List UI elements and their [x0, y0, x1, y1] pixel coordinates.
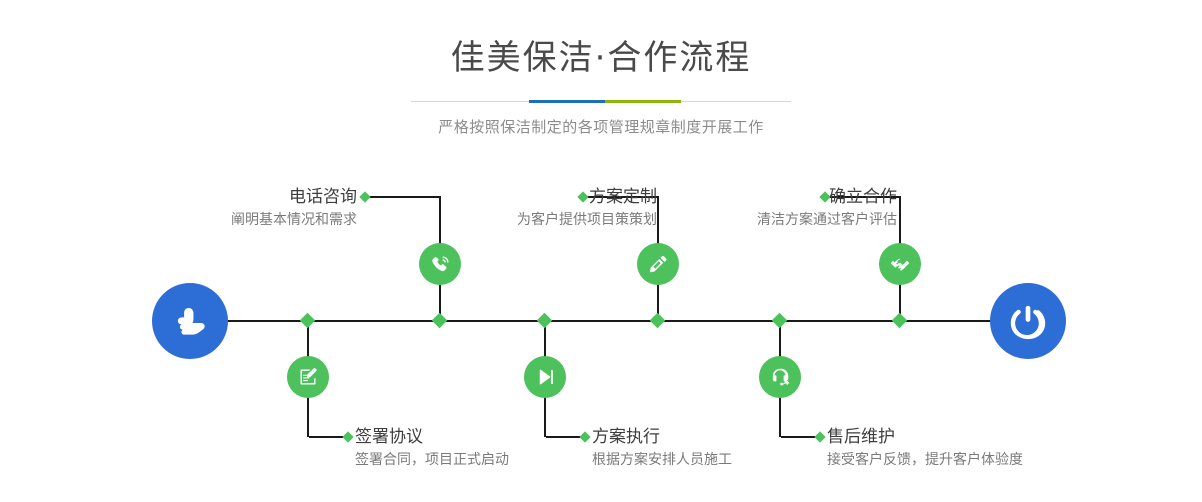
step-label-marker-4	[579, 431, 590, 442]
step-title-2: 签署协议	[355, 426, 509, 448]
timeline-end-node	[990, 283, 1066, 359]
step-lead-1	[365, 196, 441, 198]
step-desc-4: 根据方案安排人员施工	[592, 450, 732, 470]
step-desc-6: 接受客户反馈，提升客户体验度	[827, 450, 1023, 470]
step-title-1: 电话咨询	[231, 186, 357, 208]
play-next-icon	[533, 365, 557, 389]
step-icon-5	[879, 243, 921, 285]
step-label-marker-2	[342, 431, 353, 442]
power-icon	[1006, 299, 1050, 343]
pencil-icon	[646, 252, 670, 276]
step-axis-marker-6	[772, 313, 788, 329]
step-label-2: 签署协议 签署合同，项目正式启动	[355, 426, 509, 470]
step-title-6: 售后维护	[827, 426, 1023, 448]
step-label-marker-6	[814, 431, 825, 442]
timeline: 电话咨询 阐明基本情况和需求 方案定制 为客户提供项目策策划	[0, 0, 1202, 502]
timeline-start-node	[152, 283, 228, 359]
step-axis-marker-2	[300, 313, 316, 329]
step-desc-2: 签署合同，项目正式启动	[355, 450, 509, 470]
step-icon-1	[419, 243, 461, 285]
step-title-3: 方案定制	[517, 186, 657, 208]
step-label-5: 确立合作 清洁方案通过客户评估	[757, 186, 897, 230]
step-axis-marker-3	[650, 313, 666, 329]
step-axis-marker-1	[432, 313, 448, 329]
phone-call-icon	[428, 252, 452, 276]
document-edit-icon	[296, 365, 320, 389]
step-label-4: 方案执行 根据方案安排人员施工	[592, 426, 732, 470]
step-desc-5: 清洁方案通过客户评估	[757, 210, 897, 230]
step-icon-2	[287, 356, 329, 398]
step-icon-4	[524, 356, 566, 398]
step-axis-marker-4	[537, 313, 553, 329]
step-desc-3: 为客户提供项目策策划	[517, 210, 657, 230]
step-title-5: 确立合作	[757, 186, 897, 208]
step-label-6: 售后维护 接受客户反馈，提升客户体验度	[827, 426, 1023, 470]
step-label-marker-1	[359, 191, 370, 202]
step-icon-6	[759, 356, 801, 398]
step-icon-3	[637, 243, 679, 285]
step-desc-1: 阐明基本情况和需求	[231, 210, 357, 230]
handshake-icon	[888, 252, 912, 276]
step-label-3: 方案定制 为客户提供项目策策划	[517, 186, 657, 230]
pointing-hand-icon	[168, 299, 212, 343]
step-title-4: 方案执行	[592, 426, 732, 448]
support-agent-icon	[768, 365, 792, 389]
process-flow-infographic: 佳美保洁·合作流程 严格按照保洁制定的各项管理规章制度开展工作	[0, 0, 1202, 502]
step-axis-marker-5	[892, 313, 908, 329]
step-label-1: 电话咨询 阐明基本情况和需求	[231, 186, 357, 230]
